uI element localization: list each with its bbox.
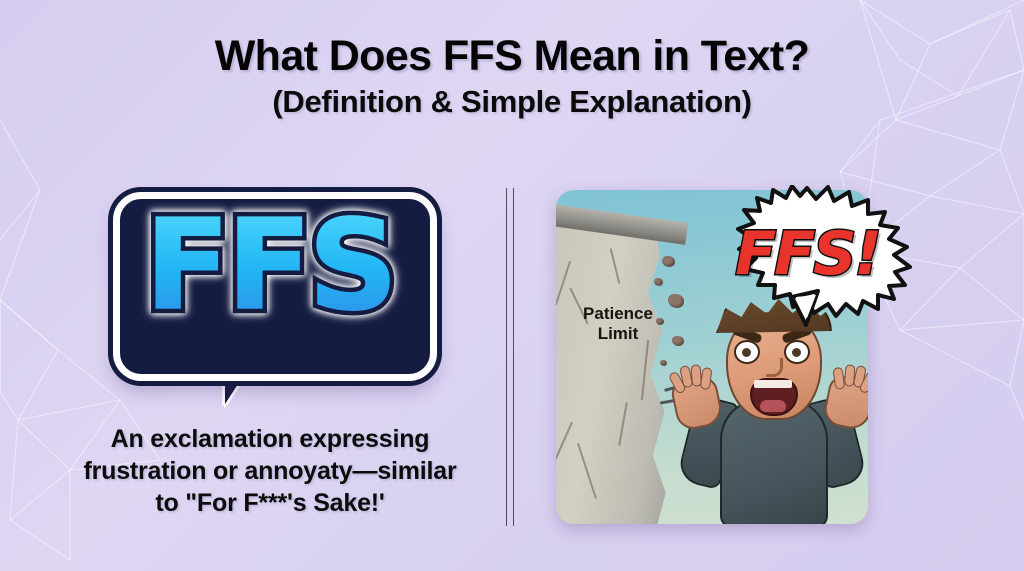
- ffs-logo-text: FFS: [105, 204, 435, 328]
- page-subtitle: (Definition & Simple Explanation): [0, 85, 1024, 119]
- finger: [832, 367, 845, 390]
- vertical-divider: [506, 188, 516, 526]
- comic-speech-bubble: FFS! FFS!: [700, 185, 915, 333]
- caption-line-1: An exclamation expressing: [60, 423, 480, 455]
- definition-caption: An exclamation expressing frustration or…: [60, 423, 480, 519]
- wall-label-line-2: Limit: [562, 324, 674, 344]
- debris-chunk: [660, 360, 667, 366]
- cracked-wall: [556, 212, 674, 524]
- debris-chunk: [662, 256, 675, 267]
- left-pupil: [742, 348, 751, 357]
- right-pupil: [792, 348, 801, 357]
- infographic-canvas: What Does FFS Mean in Text? (Definition …: [0, 0, 1024, 571]
- caption-line-3: to "For F***'s Sake!': [60, 487, 480, 519]
- finger: [700, 367, 713, 390]
- caption-line-2: frustration or annoyaty—similar: [60, 455, 480, 487]
- teeth: [754, 380, 792, 388]
- header-block: What Does FFS Mean in Text? (Definition …: [0, 34, 1024, 119]
- right-eye: [784, 340, 810, 364]
- debris-chunk: [656, 318, 664, 325]
- comic-bubble-text: FFS!: [700, 219, 915, 289]
- divider-line-left: [506, 188, 507, 526]
- ffs-logo-badge: FFS FFS: [105, 186, 435, 401]
- left-eye: [734, 340, 760, 364]
- left-definition-block: FFS FFS An exclamation expressing frustr…: [60, 186, 480, 519]
- tongue: [760, 400, 786, 412]
- page-title: What Does FFS Mean in Text?: [0, 34, 1024, 79]
- divider-line-right: [513, 188, 514, 526]
- debris-chunk: [654, 278, 663, 286]
